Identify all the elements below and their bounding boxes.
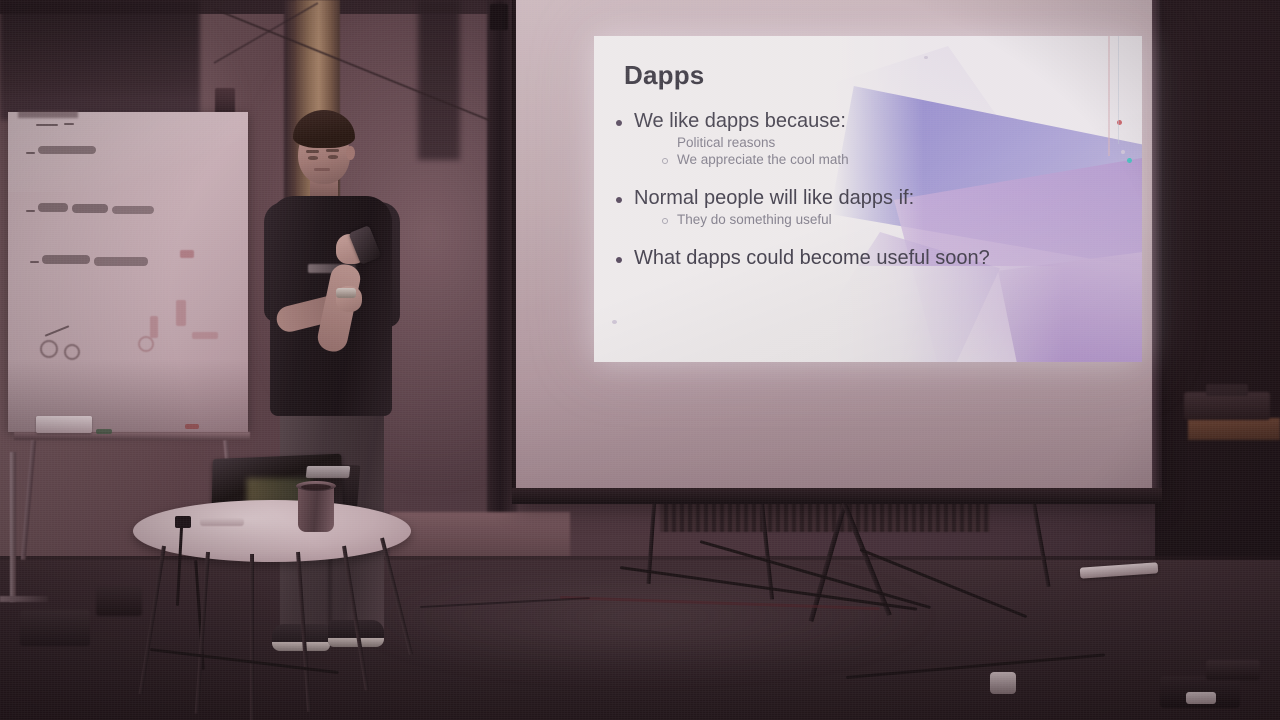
handwriting-stroke [30, 261, 39, 263]
slide-subbullet: They do something useful [662, 212, 1136, 227]
slide-subbullet-text: We appreciate the cool math [677, 152, 849, 167]
handwriting-stroke [94, 257, 148, 266]
slide-bullet: We like dapps because: [616, 110, 1136, 133]
marker-green [96, 429, 112, 434]
handwriting-stroke [36, 124, 58, 126]
handwriting-stroke-red [176, 300, 186, 326]
handwriting-stroke-red [150, 316, 158, 338]
floor-white-device [1186, 692, 1216, 704]
slide-bullet: What dapps could become useful soon? [616, 247, 1136, 270]
whiteboard-eraser [36, 416, 92, 433]
slide-bullet-list: We like dapps because: Political reasons… [616, 108, 1136, 270]
coffee-liquid [301, 484, 331, 490]
handwriting-stroke [72, 204, 108, 213]
wristwatch [336, 288, 356, 298]
handwriting-stroke [26, 210, 35, 212]
slide-bullet-text: Normal people will like dapps if: [634, 187, 914, 210]
slide-subbullet-text: They do something useful [677, 212, 832, 227]
laptop-keyboard-highlight [306, 466, 351, 478]
light-stand-pole [10, 452, 16, 602]
presenter-mouth [314, 168, 330, 171]
slide-bullet-text: What dapps could become useful soon? [634, 247, 990, 270]
floor-equipment-box-2 [96, 586, 142, 616]
right-dark-area [1155, 0, 1280, 600]
bullet-ring-icon [662, 218, 668, 224]
slide-subbullet: Political reasons [677, 135, 1136, 150]
presenter-eye [308, 156, 318, 160]
handwriting-stroke-red [192, 332, 218, 339]
handwriting-sketch [138, 336, 154, 352]
dark-wall-panel [418, 0, 460, 160]
presenter-eye [328, 155, 338, 159]
coffee-cup [298, 484, 334, 532]
photo-scene: Dapps We like dapps because: Political r… [0, 0, 1280, 720]
slide-bullet-group: We like dapps because: Political reasons… [616, 110, 1136, 167]
projector-speck [1127, 158, 1132, 163]
projector-scanline [1118, 36, 1119, 144]
presenter-hair [293, 110, 355, 148]
slide-subbullet: We appreciate the cool math [662, 152, 1136, 167]
floor-light-sheen [330, 572, 1110, 720]
handwriting-stroke [42, 255, 90, 264]
slide-bullet-text: We like dapps because: [634, 110, 846, 133]
bullet-dot-icon [616, 197, 622, 203]
whiteboard-tray [14, 432, 250, 440]
presenter-brow [306, 150, 319, 153]
ceiling-shadow [0, 0, 200, 120]
projector-speck [924, 56, 928, 59]
screen-right-rail [1152, 0, 1162, 502]
slide-content: Dapps We like dapps because: Political r… [594, 36, 1142, 362]
presenter-ear [346, 146, 355, 160]
handwriting-stroke [38, 146, 96, 154]
handwriting-stroke-red [180, 250, 194, 258]
wall-box-2 [490, 4, 508, 30]
bullet-ring-icon [662, 158, 668, 164]
projected-slide: Dapps We like dapps because: Political r… [594, 36, 1142, 362]
handwriting-stroke [112, 206, 154, 214]
handwriting-stroke [64, 123, 74, 125]
bullet-dot-icon [616, 120, 622, 126]
projector-speck [612, 320, 617, 324]
round-side-table [133, 500, 411, 562]
bullet-dot-icon [616, 257, 622, 263]
handwriting-sketch [40, 340, 58, 358]
projector-speck [1121, 150, 1125, 154]
presenter-brow [326, 149, 339, 152]
right-wooden-table [1188, 418, 1280, 440]
floor-equipment-box [20, 610, 90, 646]
handwriting-sketch [64, 344, 80, 360]
presenter-shoe-sole-left [272, 642, 330, 651]
slide-bullet-group: Normal people will like dapps if: They d… [616, 187, 1136, 227]
slide-bullet: Normal people will like dapps if: [616, 187, 1136, 210]
floor-equipment-2 [1206, 660, 1260, 680]
screen-bottom-bar [512, 488, 1162, 504]
power-adapter [990, 672, 1016, 694]
table-leg [250, 554, 254, 720]
light-stand-foot [0, 596, 48, 602]
flipchart-clip [18, 110, 78, 118]
handwriting-stroke [26, 152, 35, 154]
slide-subbullet-text: Political reasons [677, 135, 775, 150]
presenter [262, 104, 422, 674]
handwriting-stroke [38, 203, 68, 212]
papers-on-table [200, 518, 244, 526]
marker-red [185, 424, 199, 429]
right-equipment [1184, 392, 1270, 420]
right-equipment-2 [1206, 384, 1248, 396]
slide-bullet-group: What dapps could become useful soon? [616, 247, 1136, 270]
slide-title: Dapps [624, 60, 704, 91]
projector-scanline [1108, 36, 1110, 156]
